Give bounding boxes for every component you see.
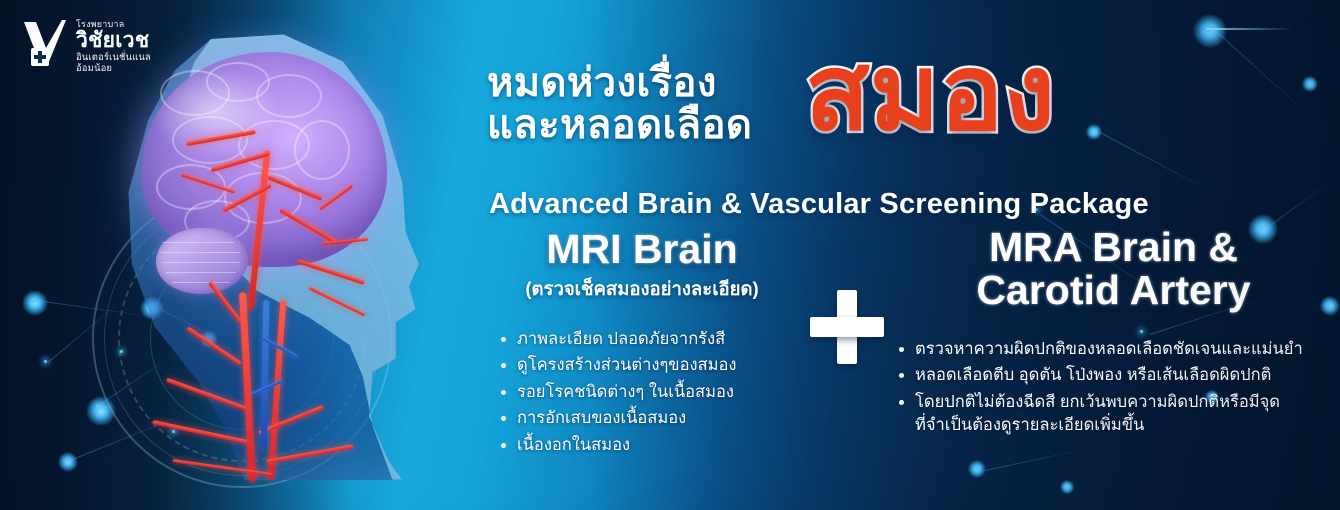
brain-screening-banner: โรงพยาบาล วิชัยเวช อินเตอร์เนชั่นแนล อ้อ…	[0, 0, 1340, 510]
vignette-overlay	[0, 0, 1340, 510]
